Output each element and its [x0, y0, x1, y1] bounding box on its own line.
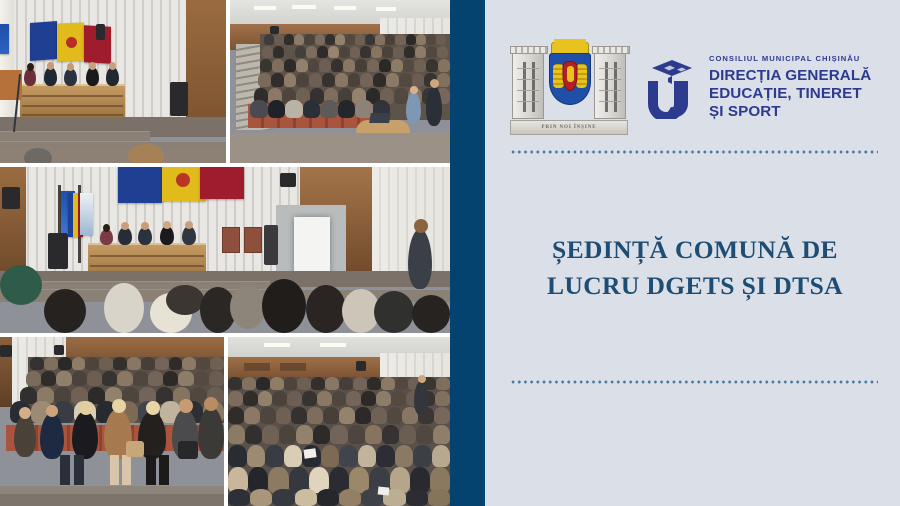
coa-shield-icon	[549, 53, 591, 105]
title-line-2: LUCRU DGETS ȘI DTSA	[505, 268, 885, 304]
divider-bottom	[510, 380, 878, 384]
org-line-2: EDUCAȚIE, TINERET	[709, 85, 871, 103]
photo-collage	[0, 0, 450, 506]
coa-motto-banner: PRIN NOI ÎNȘINE	[510, 120, 628, 135]
logo-lockup: PRIN NOI ÎNȘINE	[510, 38, 885, 138]
photo-panel-flags	[0, 0, 226, 163]
dgets-wordmark: CONSILIUL MUNICIPAL CHIȘINĂU DIRECȚIA GE…	[642, 55, 871, 120]
org-line-3: ȘI SPORT	[709, 103, 871, 121]
photo-auditorium-full	[230, 0, 450, 163]
graduation-cap-monogram-icon	[642, 57, 700, 119]
chisinau-coat-of-arms-icon: PRIN NOI ÎNȘINE	[510, 39, 628, 137]
org-line-1: DIRECȚIA GENERALĂ	[709, 67, 871, 85]
divider-top	[510, 150, 878, 154]
title-line-1: ȘEDINȚĂ COMUNĂ DE	[505, 232, 885, 268]
presentation-slide: PRIN NOI ÎNȘINE	[0, 0, 900, 506]
photo-audience-rows	[0, 337, 224, 506]
dgets-text-block: CONSILIUL MUNICIPAL CHIȘINĂU DIRECȚIA GE…	[709, 55, 871, 120]
photo-presidium-projector	[0, 167, 450, 333]
photo-audience-wide	[228, 337, 450, 506]
title-panel: PRIN NOI ÎNȘINE	[485, 0, 900, 506]
coa-tower-right	[594, 51, 626, 119]
coa-tower-left	[512, 51, 544, 119]
accent-bar	[450, 0, 485, 506]
coa-motto-text: PRIN NOI ÎNȘINE	[542, 125, 597, 130]
page-title: ȘEDINȚĂ COMUNĂ DE LUCRU DGETS ȘI DTSA	[505, 232, 885, 304]
org-council-line: CONSILIUL MUNICIPAL CHIȘINĂU	[709, 55, 871, 63]
